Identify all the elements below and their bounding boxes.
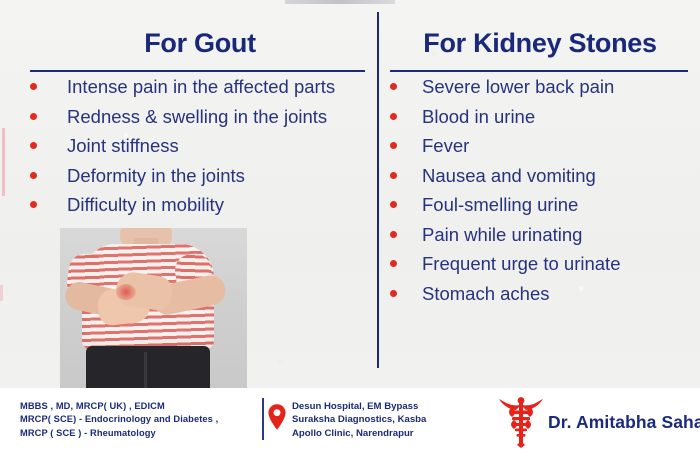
symptom-text: Fever (422, 131, 469, 161)
top-edge-artifact (285, 0, 395, 4)
address-line: Desun Hospital, EM Bypass (292, 400, 482, 413)
list-item: Severe lower back pain (390, 72, 690, 102)
column-title-kidney-stones: For Kidney Stones (390, 26, 690, 60)
bullet-dot-icon (390, 260, 397, 267)
bullet-dot-icon (30, 113, 37, 120)
list-item: Frequent urge to urinate (390, 249, 690, 279)
symptom-text: Joint stiffness (67, 131, 179, 161)
column-title-gout: For Gout (30, 26, 370, 60)
bullet-dot-icon (390, 231, 397, 238)
symptom-text: Redness & swelling in the joints (67, 102, 327, 132)
bullet-dot-icon (390, 142, 397, 149)
list-item: Intense pain in the affected parts (30, 72, 370, 102)
bullet-dot-icon (390, 290, 397, 297)
column-kidney-stones: For Kidney Stones Severe lower back pain… (390, 26, 690, 308)
list-item: Redness & swelling in the joints (30, 102, 370, 132)
bullet-dot-icon (30, 83, 37, 90)
list-item: Difficulty in mobility (30, 190, 370, 220)
list-item: Deformity in the joints (30, 161, 370, 191)
credential-line: MRCP( SCE) - Endocrinology and Diabetes … (20, 413, 268, 426)
bullet-dot-icon (30, 142, 37, 149)
list-item: Joint stiffness (30, 131, 370, 161)
bullet-dot-icon (30, 172, 37, 179)
symptom-text: Severe lower back pain (422, 72, 614, 102)
list-item: Fever (390, 131, 690, 161)
infographic-canvas: For Gout Intense pain in the affected pa… (0, 0, 700, 451)
caduceus-logo-icon (492, 396, 550, 448)
list-item: Pain while urinating (390, 220, 690, 250)
list-item: Blood in urine (390, 102, 690, 132)
symptom-text: Frequent urge to urinate (422, 249, 621, 279)
column-divider (377, 12, 379, 368)
credential-line: MBBS , MD, MRCP( UK) , EDICM (20, 400, 268, 413)
list-item: Nausea and vomiting (390, 161, 690, 191)
symptom-text: Deformity in the joints (67, 161, 245, 191)
symptom-text: Stomach aches (422, 279, 550, 309)
footer-separator (262, 398, 264, 440)
list-item: Stomach aches (390, 279, 690, 309)
column-gout: For Gout Intense pain in the affected pa… (30, 26, 370, 220)
left-edge-accent-bar-secondary (0, 285, 3, 301)
clinic-addresses: Desun Hospital, EM Bypass Suraksha Diagn… (292, 400, 482, 440)
list-item: Foul-smelling urine (390, 190, 690, 220)
symptom-list-kidney-stones: Severe lower back pain Blood in urine Fe… (390, 72, 690, 308)
symptom-text: Intense pain in the affected parts (67, 72, 335, 102)
doctor-name: Dr. Amitabha Saha (548, 412, 700, 433)
left-edge-accent-bar (2, 128, 5, 196)
bullet-dot-icon (390, 83, 397, 90)
bullet-dot-icon (390, 113, 397, 120)
symptom-list-gout: Intense pain in the affected parts Redne… (30, 72, 370, 220)
location-pin-icon (268, 404, 286, 430)
photo-trousers (86, 346, 210, 388)
photo-pain-highlight (116, 284, 136, 300)
bullet-dot-icon (390, 172, 397, 179)
doctor-credentials: MBBS , MD, MRCP( UK) , EDICM MRCP( SCE) … (20, 400, 268, 440)
symptom-text: Foul-smelling urine (422, 190, 578, 220)
symptom-text: Nausea and vomiting (422, 161, 596, 191)
address-line: Suraksha Diagnostics, Kasba (292, 413, 482, 426)
address-line: Apollo Clinic, Narendrapur (292, 427, 482, 440)
patient-photo (60, 228, 247, 388)
symptom-text: Pain while urinating (422, 220, 582, 250)
bullet-dot-icon (390, 201, 397, 208)
credential-line: MRCP ( SCE ) - Rheumatology (20, 427, 268, 440)
symptom-text: Difficulty in mobility (67, 190, 224, 220)
bullet-dot-icon (30, 201, 37, 208)
symptom-text: Blood in urine (422, 102, 535, 132)
